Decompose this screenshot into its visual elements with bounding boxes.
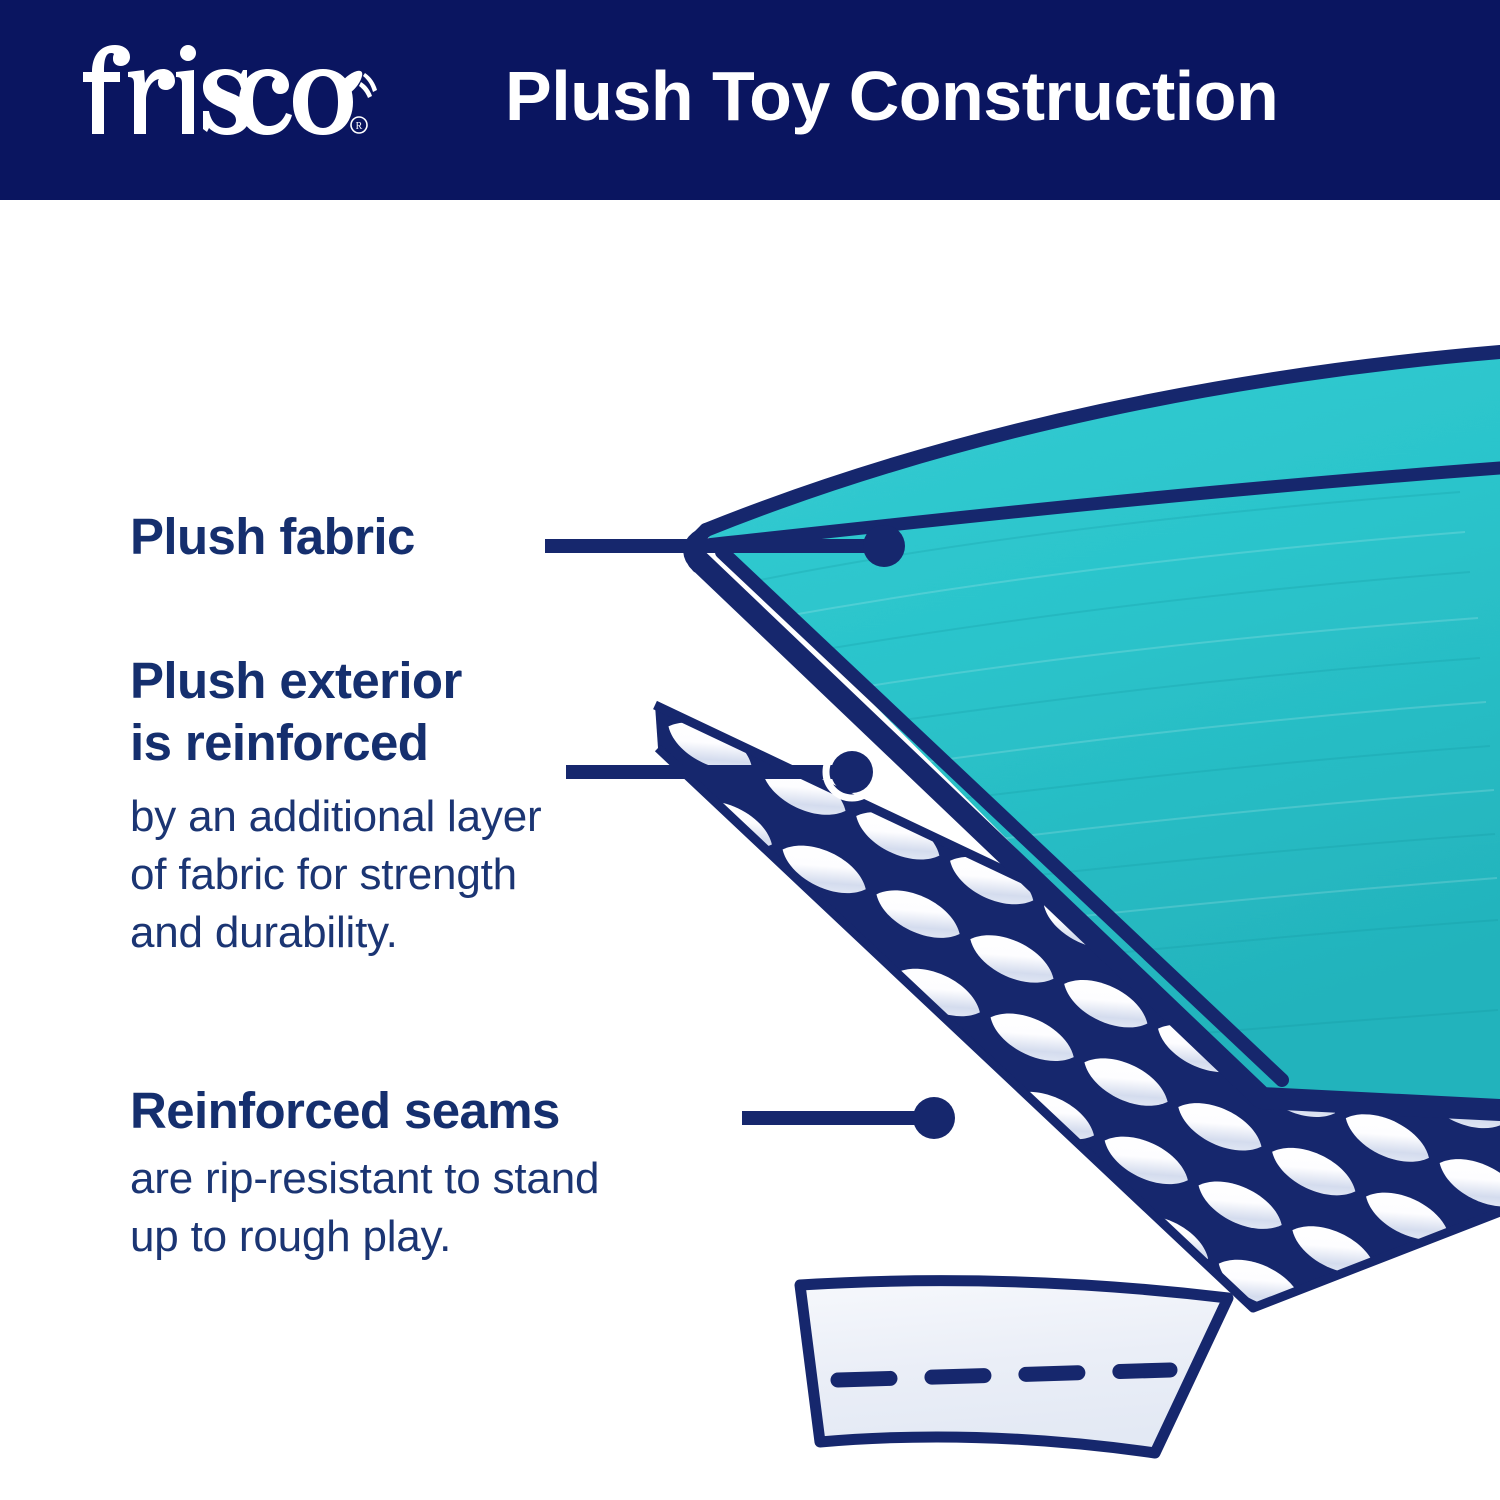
callout-plush-exterior: Plush exterior is reinforced by an addit…	[130, 650, 541, 962]
leader-dot-plush-fabric	[863, 525, 905, 567]
frisco-wordmark-icon: R	[82, 38, 382, 148]
leader-reinforced-seams	[742, 1097, 955, 1139]
callout-reinforced-seams-heading: Reinforced seams	[130, 1080, 599, 1142]
callout-reinforced-seams: Reinforced seams are rip-resistant to st…	[130, 1080, 599, 1266]
callout-plush-fabric: Plush fabric	[130, 506, 415, 568]
header-bar: R Plush Toy Construction	[0, 0, 1500, 200]
callout-plush-exterior-heading-line2: is reinforced	[130, 712, 541, 774]
frisco-logo: R	[82, 38, 382, 148]
callout-plush-exterior-body-line1: by an additional layer	[130, 788, 541, 846]
leader-dot-plush-exterior	[831, 751, 873, 793]
callout-plush-fabric-heading: Plush fabric	[130, 506, 415, 568]
leader-dot-reinforced-seams	[913, 1097, 955, 1139]
callout-reinforced-seams-body-line1: are rip-resistant to stand	[130, 1150, 599, 1208]
seam-flap	[800, 1281, 1228, 1453]
infographic-page: R Plush Toy Construction	[0, 0, 1500, 1500]
registered-trademark-icon: R	[351, 117, 367, 133]
page-title: Plush Toy Construction	[505, 46, 1405, 146]
callout-plush-exterior-body-line3: and durability.	[130, 904, 541, 962]
svg-text:R: R	[356, 121, 363, 132]
callout-plush-exterior-body-line2: of fabric for strength	[130, 846, 541, 904]
callout-plush-exterior-heading-line1: Plush exterior	[130, 650, 541, 712]
callout-reinforced-seams-body-line2: up to rough play.	[130, 1208, 599, 1266]
